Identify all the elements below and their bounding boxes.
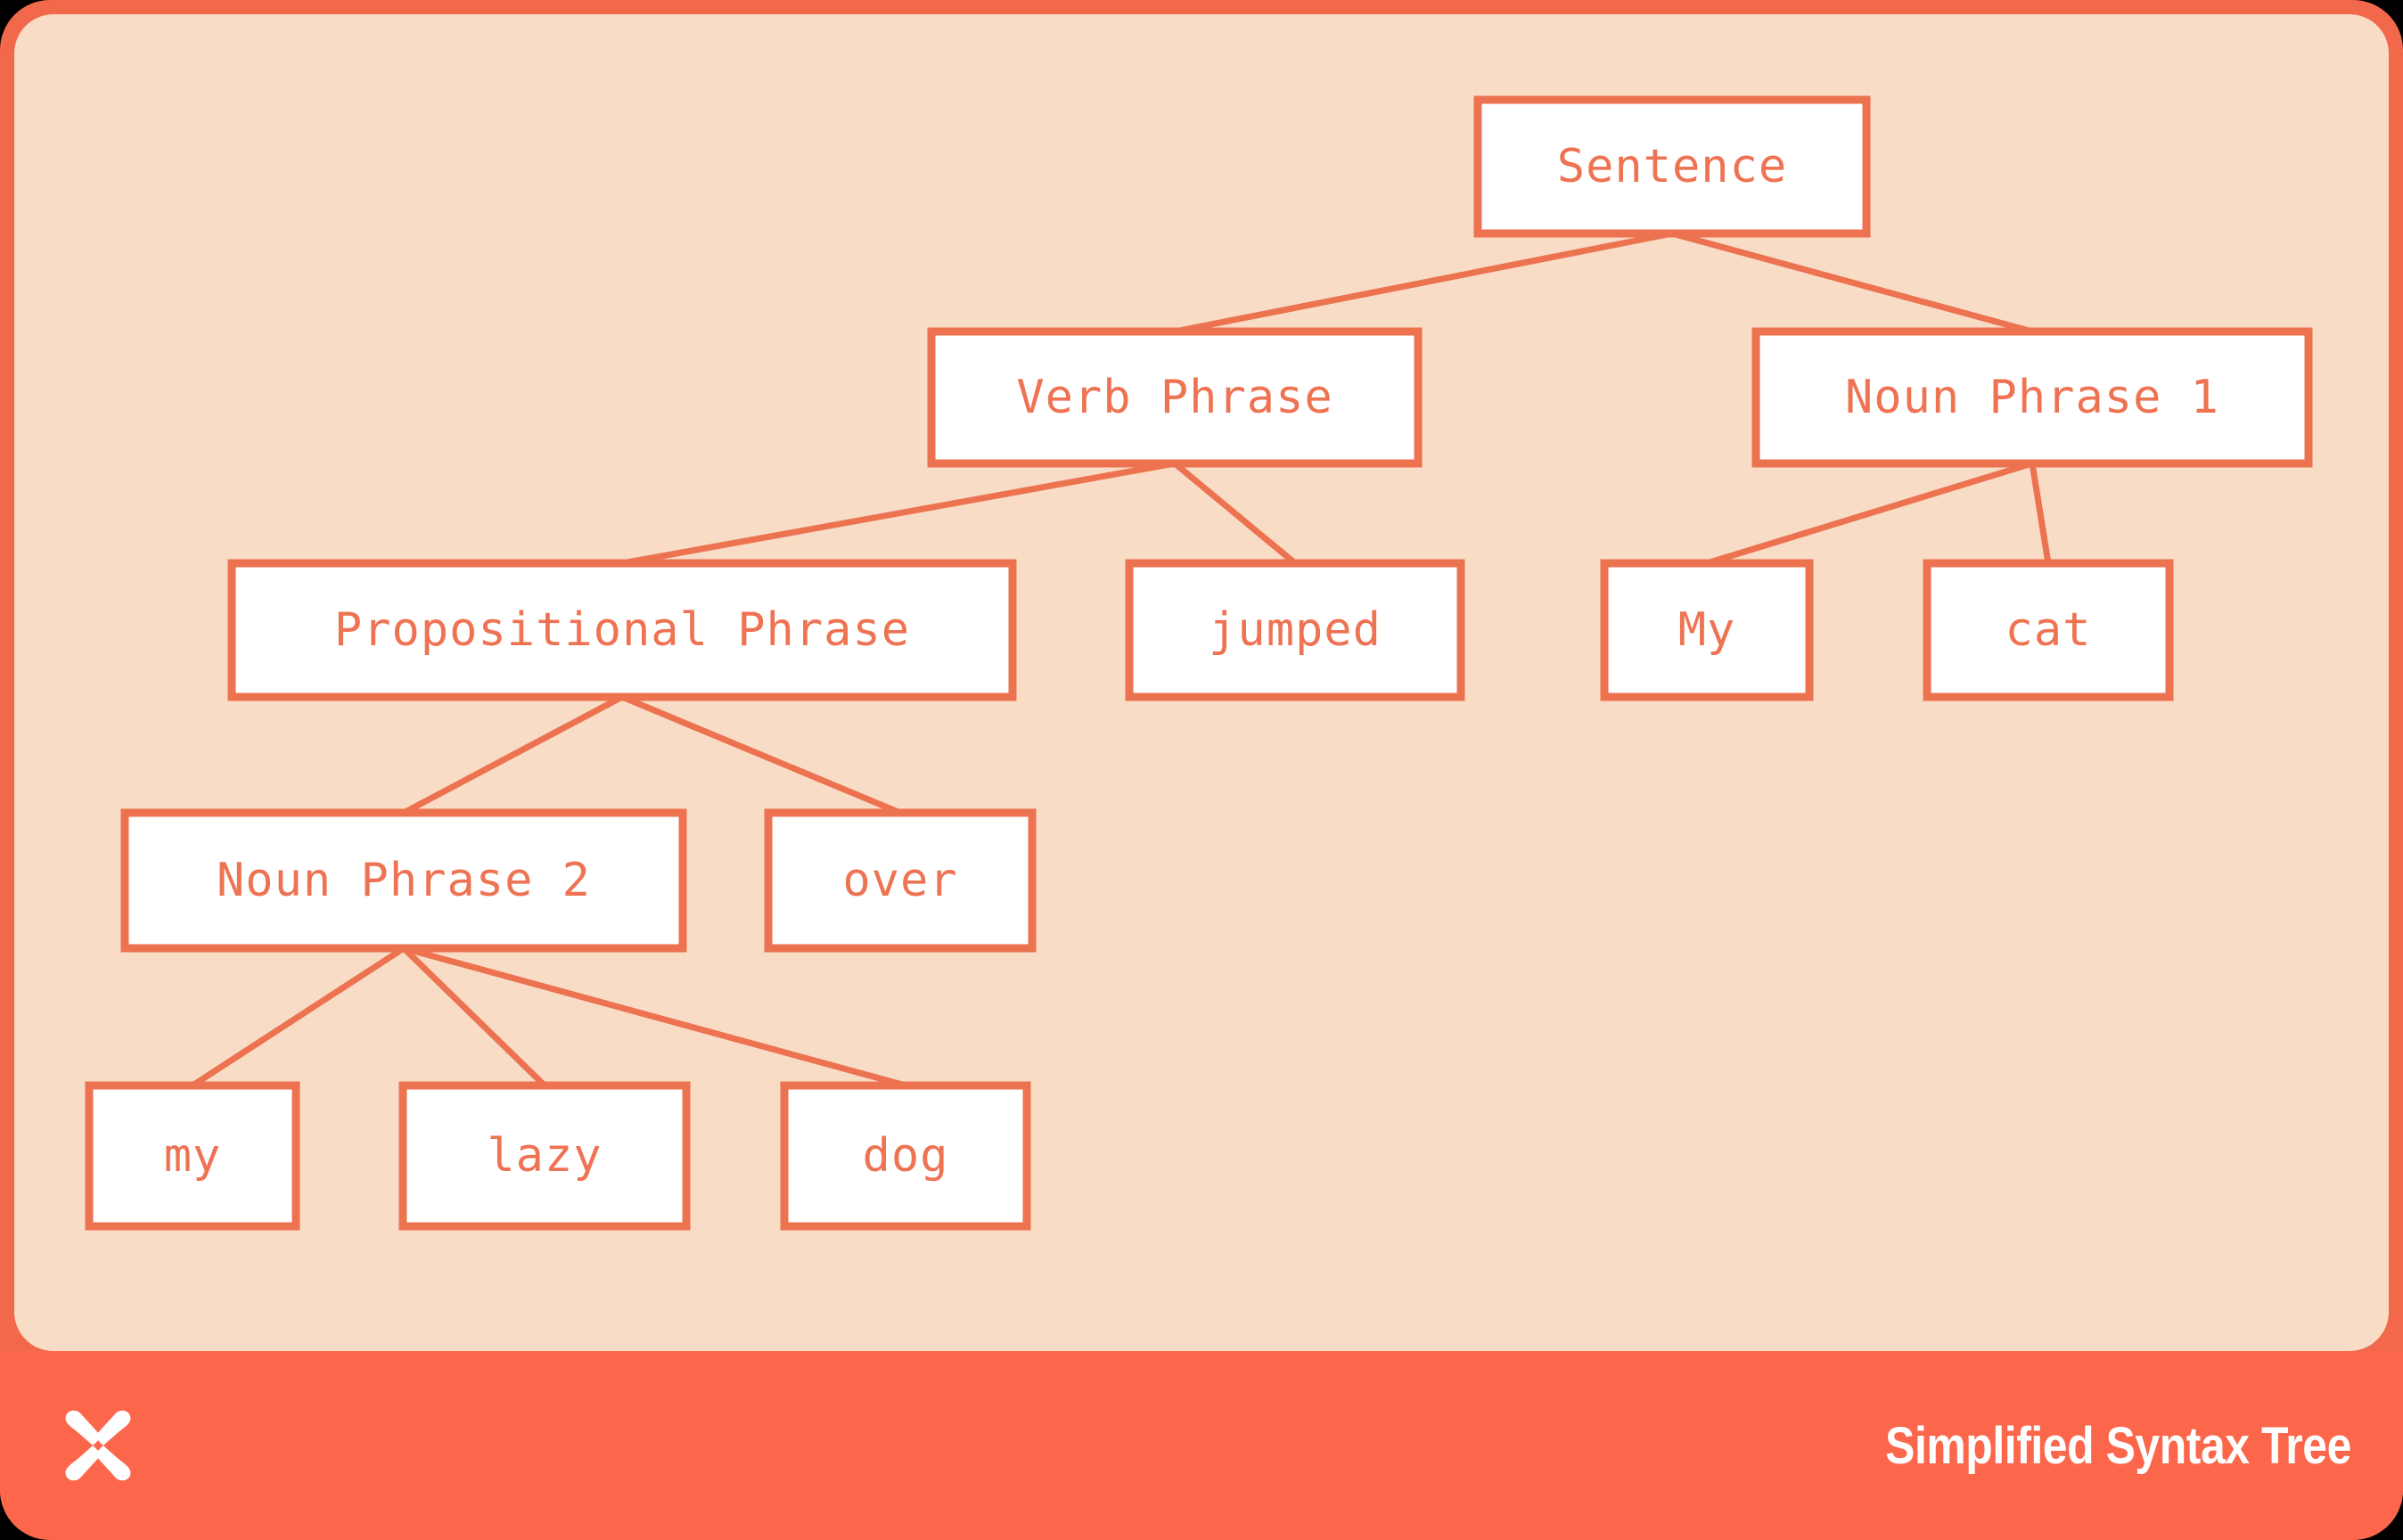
tree-edge [193,948,404,1085]
syntax-tree-diagram: SentenceVerb PhraseNoun Phrase 1Proposit… [0,0,2403,1351]
tree-node-label: dog [863,1129,949,1183]
tree-node-label: lazy [487,1129,602,1183]
tree-node[interactable]: Propositional Phrase [232,563,1013,697]
footer-title: Simplified Syntax Tree [1885,1416,2351,1476]
tree-node[interactable]: My [1604,563,1809,697]
tree-node[interactable]: lazy [403,1085,686,1226]
tree-node-label: Verb Phrase [1016,371,1333,424]
tree-node-label: over [842,854,957,907]
tree-node-label: Propositional Phrase [334,603,910,657]
tree-node[interactable]: my [89,1085,296,1226]
tree-node-label: my [164,1129,222,1183]
tree-edge [404,948,906,1085]
tree-node[interactable]: dog [784,1085,1027,1226]
tree-node[interactable]: Sentence [1478,100,1866,233]
footer-bar: Simplified Syntax Tree [0,1351,2403,1540]
butterfly-x-logo-icon [55,1403,141,1488]
screenshot-stage: SentenceVerb PhraseNoun Phrase 1Proposit… [0,0,2403,1540]
tree-node-label: Noun Phrase 1 [1845,371,2219,424]
tree-node[interactable]: jumped [1129,563,1461,697]
tree-edge [622,697,900,813]
tree-node[interactable]: over [768,813,1032,948]
infographic-card: SentenceVerb PhraseNoun Phrase 1Proposit… [0,0,2403,1540]
tree-node[interactable]: Noun Phrase 1 [1756,332,2309,463]
tree-node[interactable]: cat [1927,563,2169,697]
tree-node-label: jumped [1209,603,1382,657]
tree-node-label: cat [2005,603,2092,657]
tree-edge [1707,463,2032,563]
tree-edge [1175,463,1295,563]
tree-node[interactable]: Verb Phrase [931,332,1418,463]
tree-nodes: SentenceVerb PhraseNoun Phrase 1Proposit… [89,100,2309,1226]
tree-edge [1175,233,1672,332]
tree-node-label: My [1678,603,1736,657]
tree-edge [622,463,1175,563]
tree-node-label: Sentence [1557,140,1787,193]
tree-node-label: Noun Phrase 2 [217,854,591,907]
tree-edge [1672,233,2032,332]
tree-node[interactable]: Noun Phrase 2 [125,813,683,948]
tree-edge [2032,463,2048,563]
tree-edge [404,697,622,813]
